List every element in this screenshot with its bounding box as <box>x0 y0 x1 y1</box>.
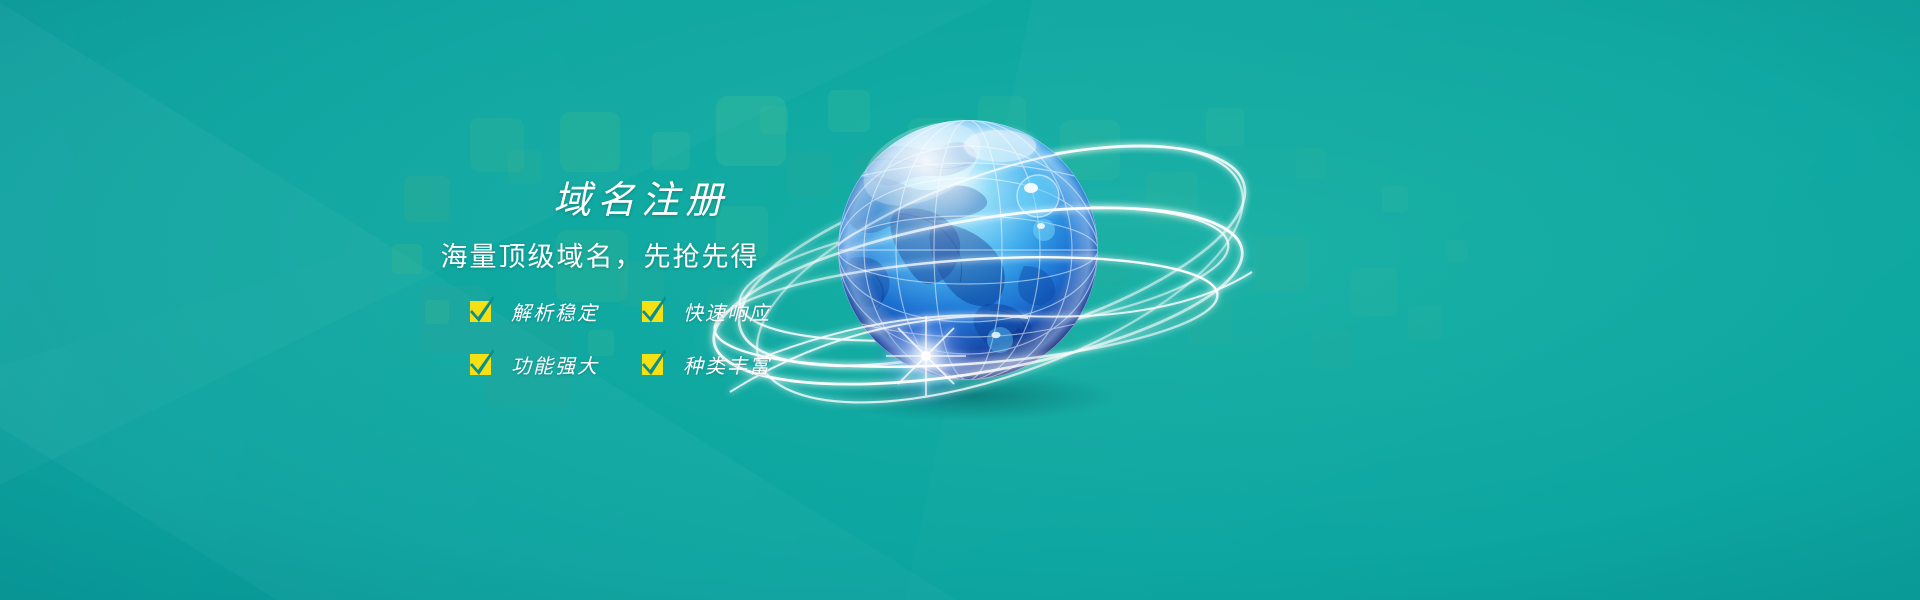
feature-item-0: 解析稳定 <box>470 297 642 326</box>
feature-item-3: 种类丰富 <box>642 350 814 379</box>
mosaic-square <box>716 96 786 166</box>
mosaic-square <box>652 132 690 170</box>
mosaic-square <box>1010 176 1050 216</box>
mosaic-square <box>1096 252 1130 286</box>
mosaic-square <box>470 118 524 172</box>
feature-label-3: 种类丰富 <box>683 350 771 379</box>
mosaic-square <box>1382 186 1408 212</box>
mosaic-square <box>836 230 876 270</box>
check-box-icon <box>642 354 663 375</box>
feature-label-2: 功能强大 <box>511 350 599 379</box>
mosaic-squares-decoration <box>0 0 1920 600</box>
background-light-band-middle <box>0 0 1920 600</box>
mosaic-square <box>1350 268 1398 316</box>
mosaic-square <box>828 90 870 132</box>
mosaic-square <box>880 296 930 346</box>
check-box-icon <box>642 301 663 322</box>
feature-label-0: 解析稳定 <box>511 297 599 326</box>
mosaic-square <box>962 268 1020 326</box>
mosaic-square <box>1146 172 1198 224</box>
feature-list: 解析稳定 快速响应 功能强大 种类丰富 <box>378 297 808 379</box>
page-title: 域名注册 <box>378 182 808 220</box>
domain-registration-banner: 域名注册 海量顶级域名，先抢先得 解析稳定 快速响应 功能强大 <box>0 0 1920 600</box>
mosaic-square <box>854 154 910 210</box>
mosaic-square <box>1188 300 1232 344</box>
background-light-band-right <box>852 0 1920 600</box>
mosaic-square <box>1408 306 1442 340</box>
mosaic-square <box>760 106 788 134</box>
mosaic-square <box>1312 330 1352 370</box>
mosaic-square <box>508 150 542 184</box>
banner-subtitle: 海量顶级域名，先抢先得 <box>378 244 808 271</box>
vignette-overlay <box>0 0 1920 600</box>
mosaic-square <box>928 214 962 248</box>
banner-copy-block: 域名注册 海量顶级域名，先抢先得 解析稳定 快速响应 功能强大 <box>378 182 808 379</box>
mosaic-square <box>1446 240 1468 262</box>
mosaic-square <box>978 96 1026 144</box>
feature-item-1: 快速响应 <box>642 297 814 326</box>
background-light-band-top <box>0 0 1785 600</box>
mosaic-square <box>908 118 972 182</box>
mosaic-square <box>1206 108 1244 146</box>
check-box-icon <box>470 301 491 322</box>
mosaic-square <box>1254 236 1310 292</box>
feature-item-2: 功能强大 <box>470 350 642 379</box>
check-box-icon <box>470 354 491 375</box>
mosaic-square <box>1060 120 1120 180</box>
mosaic-square <box>1296 148 1326 178</box>
feature-label-1: 快速响应 <box>683 297 771 326</box>
mosaic-square <box>560 112 620 172</box>
